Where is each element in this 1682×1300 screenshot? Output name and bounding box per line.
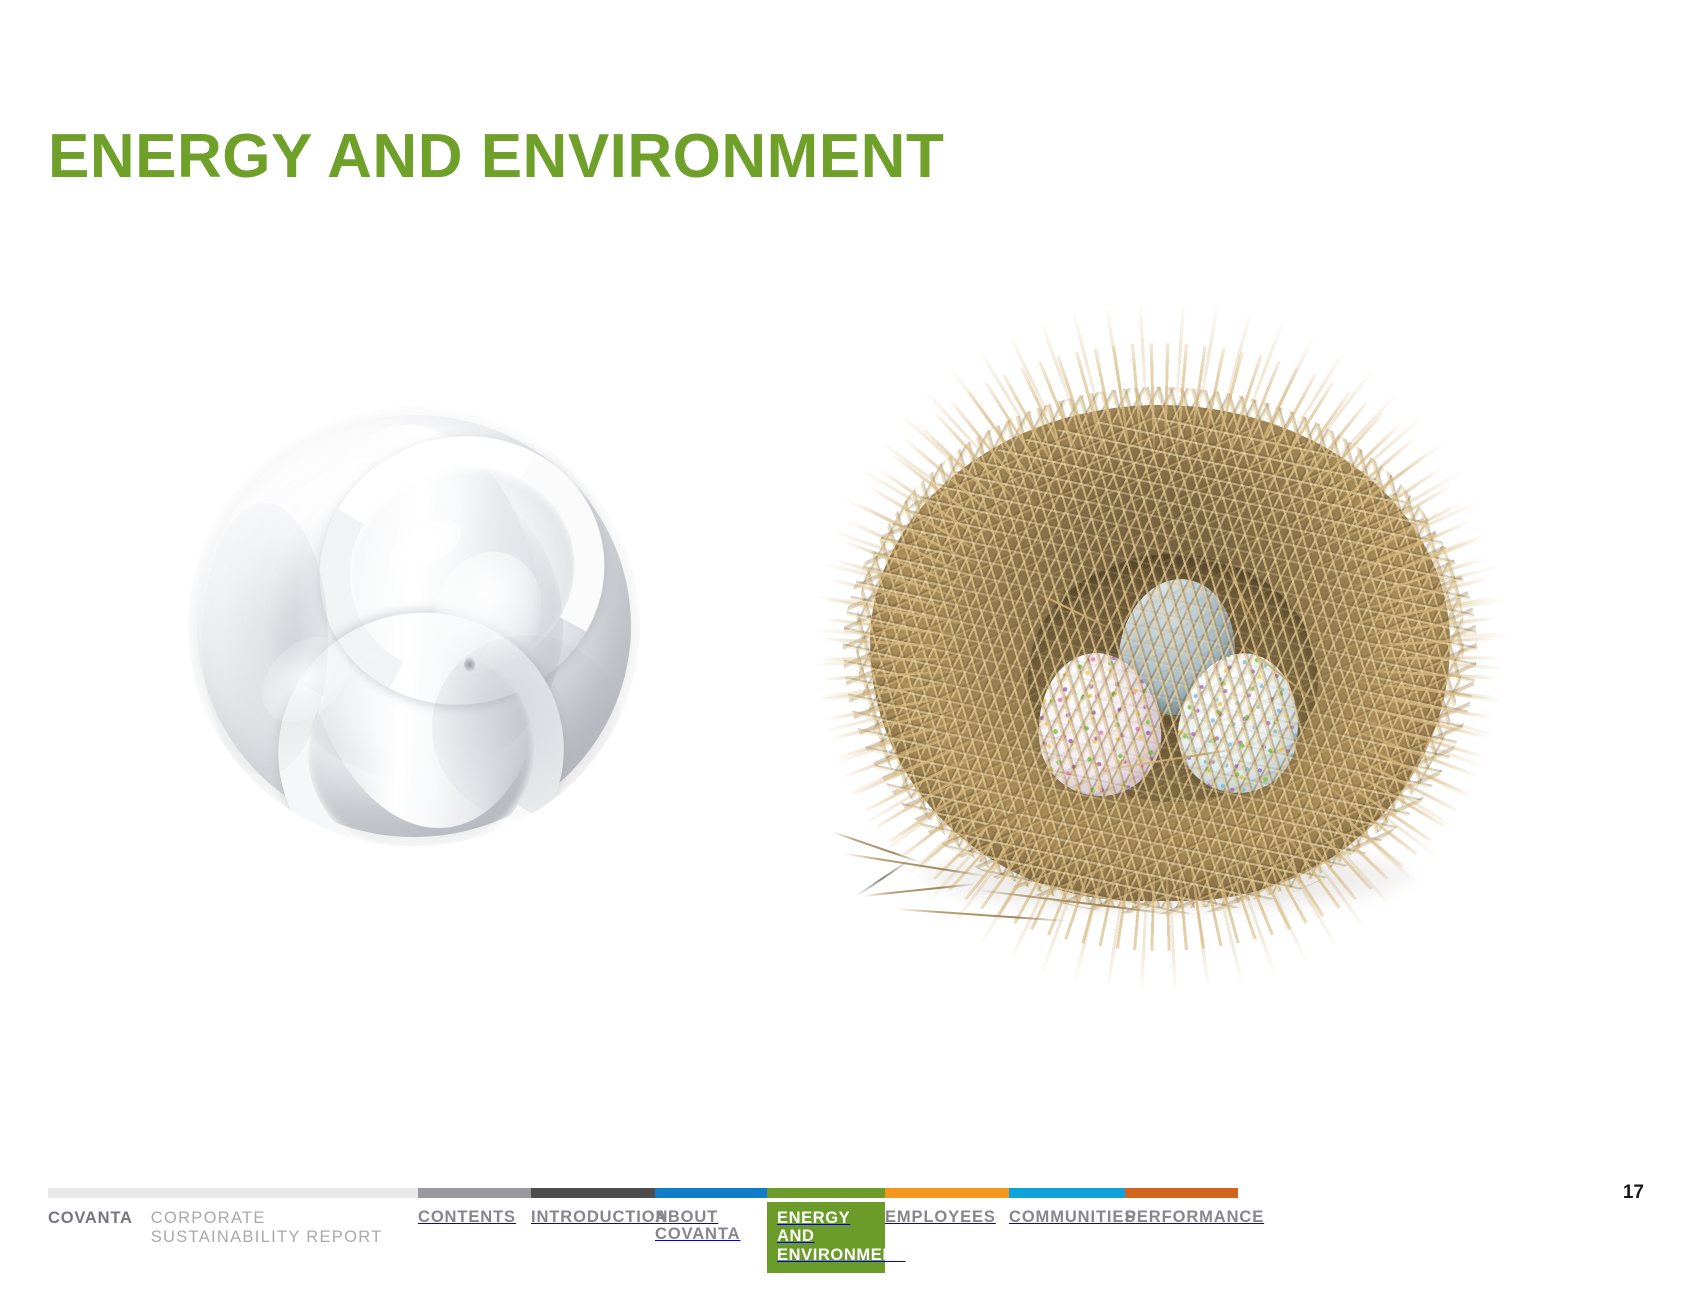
bulb-center-dot: [464, 657, 475, 672]
nest-straw-fringe-outer: [777, 306, 1543, 988]
footer-nav-about-covanta[interactable]: ABOUT COVANTA: [655, 1178, 767, 1244]
footer-nav-bar-contents: [418, 1188, 531, 1198]
footer-nav-energy-and-environment[interactable]: ENERGY AND ENVIRONMENT: [767, 1178, 885, 1273]
content-area: [0, 160, 1682, 1160]
footer-nav-performance[interactable]: PERFORMANCE: [1125, 1178, 1238, 1226]
birds-nest-photo: [830, 331, 1490, 951]
footer-navigation: COVANTA CORPORATE SUSTAINABILITY REPORT …: [48, 1178, 1238, 1273]
footer-nav-label-about-covanta: ABOUT COVANTA: [655, 1198, 767, 1244]
footer-nav-bar-employees: [885, 1188, 1009, 1198]
footer-brand-bar: [48, 1188, 418, 1198]
footer-nav-bar-introduction: [531, 1188, 655, 1198]
footer-nav-bar-communities: [1009, 1188, 1125, 1198]
page-number: 17: [1623, 1182, 1644, 1204]
brand-name: COVANTA: [48, 1209, 133, 1228]
footer-nav-label-energy-and-environment: ENERGY AND ENVIRONMENT: [767, 1202, 885, 1273]
footer-nav-introduction[interactable]: INTRODUCTION: [531, 1178, 655, 1226]
nest-illustration: [830, 331, 1490, 951]
footer-nav-bar-energy-and-environment: [767, 1188, 885, 1198]
brand-subtitle: CORPORATE SUSTAINABILITY REPORT: [151, 1209, 418, 1247]
footer-nav-communities[interactable]: COMMUNITIES: [1009, 1178, 1125, 1226]
cfl-bulb-photo: [188, 406, 640, 846]
footer-nav-contents[interactable]: CONTENTS: [418, 1178, 531, 1226]
footer-nav-label-employees: EMPLOYEES: [885, 1198, 1009, 1226]
footer-nav-bar-performance: [1125, 1188, 1238, 1198]
footer-nav-label-introduction: INTRODUCTION: [531, 1198, 655, 1226]
page-footer: COVANTA CORPORATE SUSTAINABILITY REPORT …: [0, 1170, 1682, 1300]
cfl-bulb-illustration: [188, 406, 640, 846]
footer-nav-employees[interactable]: EMPLOYEES: [885, 1178, 1009, 1226]
footer-nav-bar-about-covanta: [655, 1188, 767, 1198]
footer-nav-label-communities: COMMUNITIES: [1009, 1198, 1125, 1226]
footer-nav-label-performance: PERFORMANCE: [1125, 1198, 1238, 1226]
footer-nav-label-contents: CONTENTS: [418, 1198, 531, 1226]
footer-brand: COVANTA CORPORATE SUSTAINABILITY REPORT: [48, 1178, 418, 1247]
